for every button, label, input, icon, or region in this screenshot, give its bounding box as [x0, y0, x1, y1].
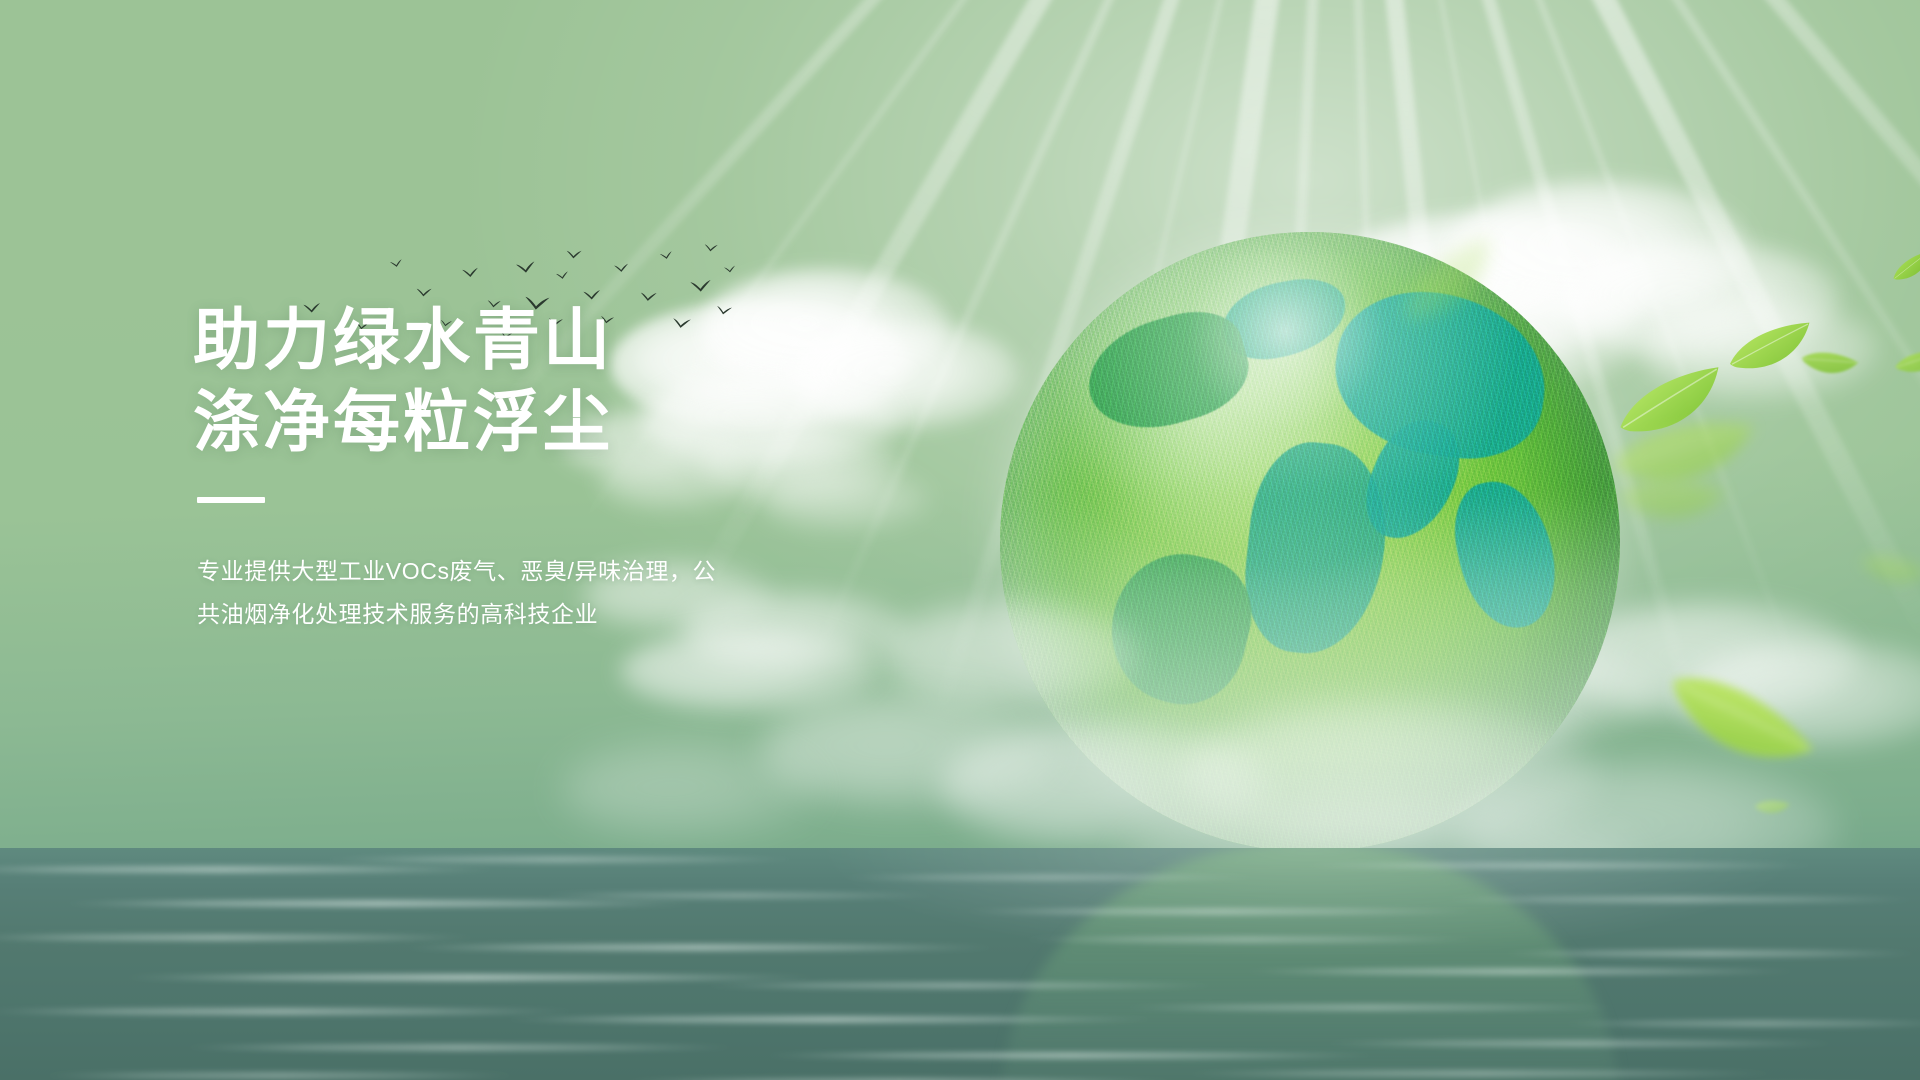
water-ripple — [1240, 968, 1800, 975]
water-ripple — [1320, 1040, 1840, 1047]
title-divider — [197, 497, 265, 503]
water-ripple — [180, 1044, 740, 1051]
water-ripple — [1440, 896, 1920, 903]
water-ripple — [320, 856, 800, 863]
water-ripple — [960, 908, 1480, 915]
water-ripple — [400, 944, 1000, 951]
hero-copy: 助力绿水青山 涤净每粒浮尘 专业提供大型工业VOCs废气、恶臭/异味治理，公共油… — [193, 300, 953, 636]
hero-banner: 助力绿水青山 涤净每粒浮尘 专业提供大型工业VOCs废气、恶臭/异味治理，公共油… — [0, 0, 1920, 1080]
water-ripple — [700, 982, 1220, 989]
globe-mist — [1000, 492, 1620, 852]
water-ripple — [1500, 950, 1920, 957]
water-ripple — [1020, 936, 1480, 943]
water-ripple — [840, 874, 1260, 881]
water-ripple — [120, 974, 820, 981]
water-ripple — [540, 892, 940, 899]
water-ripple — [500, 1016, 1160, 1023]
page-title: 助力绿水青山 涤净每粒浮尘 — [193, 300, 953, 463]
water-ripple — [1300, 862, 1820, 869]
water-ripple — [760, 1052, 1380, 1059]
water-ripple — [40, 1072, 520, 1079]
hero-subtitle: 专业提供大型工业VOCs废气、恶臭/异味治理，公共油烟净化处理技术服务的高科技企… — [197, 550, 737, 635]
earth-globe — [1000, 232, 1620, 852]
water-ripple — [60, 900, 700, 907]
water-ripple — [0, 1008, 580, 1015]
water-ripple — [1120, 1004, 1620, 1011]
water-ripple — [1180, 1070, 1780, 1077]
globe-sphere — [1000, 232, 1620, 852]
headline-line-1: 助力绿水青山 — [193, 303, 613, 378]
headline-line-2: 涤净每粒浮尘 — [193, 382, 953, 464]
water-surface — [0, 848, 1920, 1080]
